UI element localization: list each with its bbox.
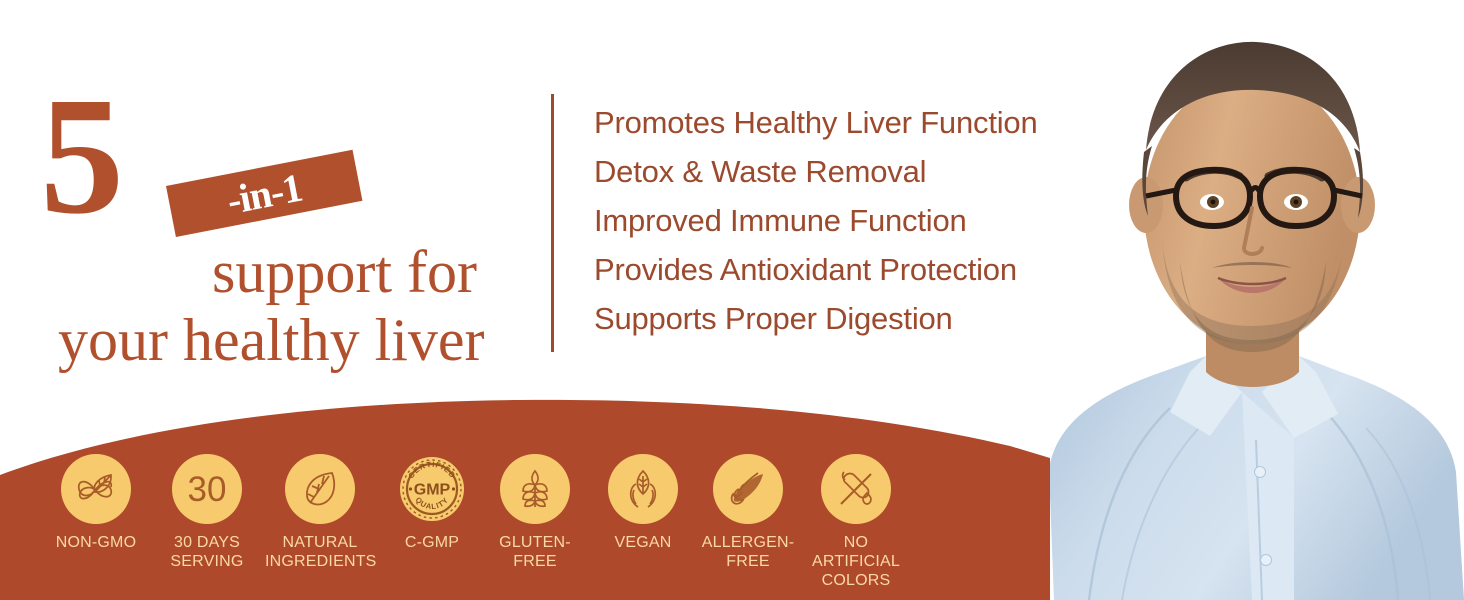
badge-number: 30	[188, 472, 227, 507]
badge-label: NO ARTIFICIAL COLORS	[801, 533, 911, 590]
badge-allergen-free: ALLERGEN- FREE	[693, 454, 803, 571]
badge-label: 30 DAYS SERVING	[152, 533, 262, 571]
badge-gluten-free: GLUTEN-FREE	[480, 454, 590, 571]
badge-row: NON-GMO 30 30 DAYS SERVING NATURAL INGRE…	[0, 440, 930, 600]
benefit-item: Provides Antioxidant Protection	[594, 245, 1094, 294]
dropper-no-icon	[821, 454, 891, 524]
vertical-divider	[551, 94, 554, 352]
badge-label: VEGAN	[588, 533, 698, 552]
benefit-item: Promotes Healthy Liver Function	[594, 98, 1094, 147]
headline-line-2: support for	[212, 240, 477, 304]
headline-block: 5 -in-1 support for your healthy liver	[34, 86, 534, 316]
leaf-icon	[285, 454, 355, 524]
badge-label: C-GMP	[377, 533, 487, 552]
butterfly-leaf-icon	[61, 454, 131, 524]
badge-no-artificial-colors: NO ARTIFICIAL COLORS	[801, 454, 911, 590]
benefit-item: Detox & Waste Removal	[594, 147, 1094, 196]
badge-label: ALLERGEN- FREE	[693, 533, 803, 571]
peanut-icon	[713, 454, 783, 524]
badge-vegan: VEGAN	[588, 454, 698, 552]
badge-30-days: 30 30 DAYS SERVING	[152, 454, 262, 571]
benefit-item: Improved Immune Function	[594, 196, 1094, 245]
benefit-list: Promotes Healthy Liver Function Detox & …	[594, 98, 1094, 343]
headline-line-3: your healthy liver	[58, 308, 485, 372]
badge-non-gmo: NON-GMO	[41, 454, 151, 552]
benefit-item: Supports Proper Digestion	[594, 294, 1094, 343]
gmp-seal-icon: CERTIFIED QUALITY GMP	[397, 454, 467, 524]
in-1-ribbon: -in-1	[166, 150, 362, 237]
ribbon-label: -in-1	[223, 163, 306, 223]
promo-banner: 5 -in-1 support for your healthy liver P…	[0, 0, 1464, 600]
badge-natural-ingredients: NATURAL INGREDIENTS	[265, 454, 375, 571]
hands-leaf-icon	[608, 454, 678, 524]
gmp-seal-center-text: GMP	[414, 482, 451, 499]
number-30-icon: 30	[172, 454, 242, 524]
badge-c-gmp: CERTIFIED QUALITY GMP C-GMP	[377, 454, 487, 552]
badge-label: NON-GMO	[41, 533, 151, 552]
badge-label: NATURAL INGREDIENTS	[265, 533, 375, 571]
headline-number: 5	[40, 72, 120, 240]
wheat-icon	[500, 454, 570, 524]
badge-label: GLUTEN-FREE	[480, 533, 590, 571]
